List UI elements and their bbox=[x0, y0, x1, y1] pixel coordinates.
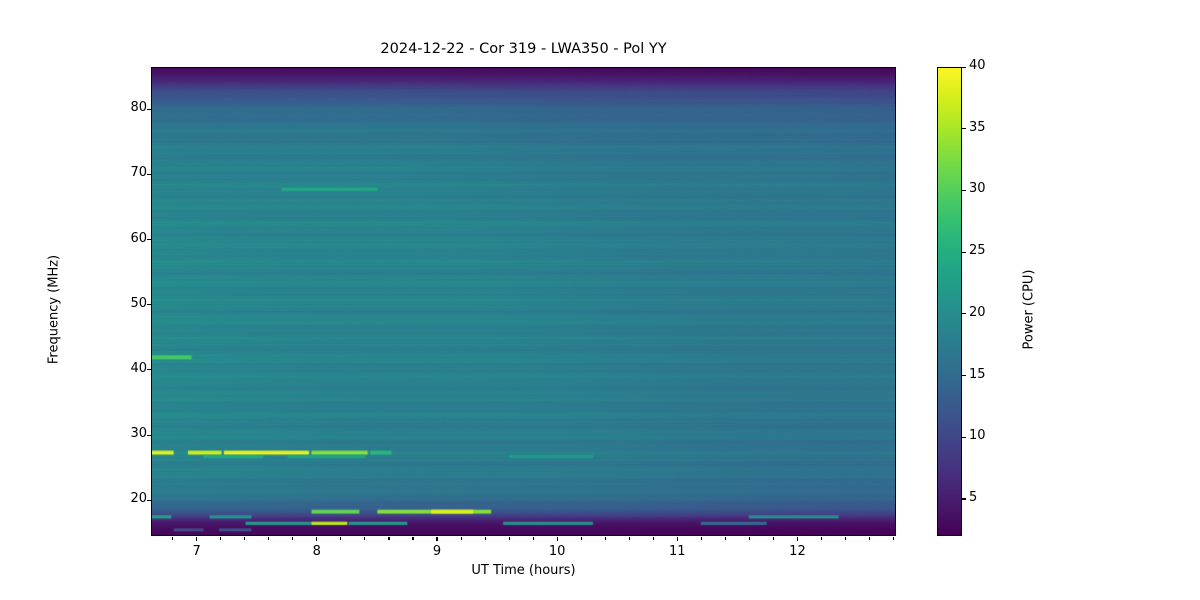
colorbar-tick-mark bbox=[962, 313, 966, 314]
x-tick-mark bbox=[436, 537, 437, 541]
x-tick-minor-mark bbox=[268, 537, 269, 540]
colorbar-tick-label: 35 bbox=[969, 120, 986, 135]
chart-title: 2024-12-22 - Cor 319 - LWA350 - Pol YY bbox=[151, 41, 896, 57]
y-tick-label: 50 bbox=[130, 296, 147, 311]
x-tick-minor-mark bbox=[485, 537, 486, 540]
colorbar-tick-mark bbox=[962, 67, 966, 68]
x-tick-minor-mark bbox=[388, 537, 389, 540]
x-tick-mark bbox=[316, 537, 317, 541]
x-tick-minor-mark bbox=[533, 537, 534, 540]
colorbar-tick-label: 20 bbox=[969, 305, 986, 320]
x-tick-minor-mark bbox=[172, 537, 173, 540]
x-tick-minor-mark bbox=[629, 537, 630, 540]
x-tick-minor-mark bbox=[869, 537, 870, 540]
colorbar-tick-mark bbox=[962, 437, 966, 438]
colorbar-tick-label: 40 bbox=[969, 58, 986, 73]
x-tick-minor-mark bbox=[725, 537, 726, 540]
x-tick-mark bbox=[797, 537, 798, 541]
x-tick-minor-mark bbox=[773, 537, 774, 540]
y-tick-mark bbox=[147, 304, 151, 305]
y-tick-mark bbox=[147, 435, 151, 436]
x-tick-mark bbox=[557, 537, 558, 541]
y-tick-mark bbox=[147, 109, 151, 110]
x-tick-minor-mark bbox=[749, 537, 750, 540]
x-tick-minor-mark bbox=[821, 537, 822, 540]
x-tick-mark bbox=[677, 537, 678, 541]
figure-canvas: 2024-12-22 - Cor 319 - LWA350 - Pol YY F… bbox=[0, 0, 1200, 600]
y-tick-label: 70 bbox=[130, 165, 147, 180]
colorbar-tick-mark bbox=[962, 252, 966, 253]
x-tick-minor-mark bbox=[581, 537, 582, 540]
x-tick-minor-mark bbox=[244, 537, 245, 540]
colorbar-tick-label: 25 bbox=[969, 243, 986, 258]
y-tick-mark bbox=[147, 369, 151, 370]
colorbar-gradient bbox=[938, 68, 961, 535]
x-tick-label: 9 bbox=[417, 544, 457, 559]
colorbar-tick-mark bbox=[962, 375, 966, 376]
x-tick-minor-mark bbox=[412, 537, 413, 540]
colorbar-tick-mark bbox=[962, 498, 966, 499]
colorbar-tick-label: 15 bbox=[969, 367, 986, 382]
x-tick-minor-mark bbox=[509, 537, 510, 540]
x-tick-label: 7 bbox=[177, 544, 217, 559]
x-tick-minor-mark bbox=[845, 537, 846, 540]
spectrogram-axes bbox=[151, 67, 896, 536]
y-tick-label: 60 bbox=[130, 231, 147, 246]
colorbar-axes bbox=[937, 67, 962, 536]
x-tick-mark bbox=[196, 537, 197, 541]
x-tick-label: 12 bbox=[777, 544, 817, 559]
colorbar-label: Power (CPU) bbox=[1022, 179, 1037, 439]
x-tick-minor-mark bbox=[893, 537, 894, 540]
x-tick-minor-mark bbox=[292, 537, 293, 540]
x-tick-minor-mark bbox=[364, 537, 365, 540]
x-tick-minor-mark bbox=[461, 537, 462, 540]
x-tick-minor-mark bbox=[605, 537, 606, 540]
colorbar-tick-mark bbox=[962, 190, 966, 191]
y-tick-label: 20 bbox=[130, 491, 147, 506]
x-tick-minor-mark bbox=[701, 537, 702, 540]
colorbar-tick-label: 10 bbox=[969, 428, 986, 443]
spectrogram-heatmap bbox=[152, 68, 895, 535]
y-axis-label: Frequency (MHz) bbox=[47, 179, 62, 439]
x-tick-label: 10 bbox=[537, 544, 577, 559]
x-tick-minor-mark bbox=[340, 537, 341, 540]
colorbar-tick-mark bbox=[962, 128, 966, 129]
x-axis-label: UT Time (hours) bbox=[151, 563, 896, 578]
y-tick-label: 30 bbox=[130, 426, 147, 441]
x-tick-minor-mark bbox=[220, 537, 221, 540]
colorbar-tick-label: 30 bbox=[969, 181, 986, 196]
x-tick-minor-mark bbox=[653, 537, 654, 540]
x-tick-label: 11 bbox=[657, 544, 697, 559]
colorbar-tick-label: 5 bbox=[969, 490, 977, 505]
y-tick-mark bbox=[147, 239, 151, 240]
y-tick-label: 40 bbox=[130, 361, 147, 376]
y-tick-label: 80 bbox=[130, 100, 147, 115]
y-tick-mark bbox=[147, 174, 151, 175]
x-tick-label: 8 bbox=[297, 544, 337, 559]
y-tick-mark bbox=[147, 500, 151, 501]
